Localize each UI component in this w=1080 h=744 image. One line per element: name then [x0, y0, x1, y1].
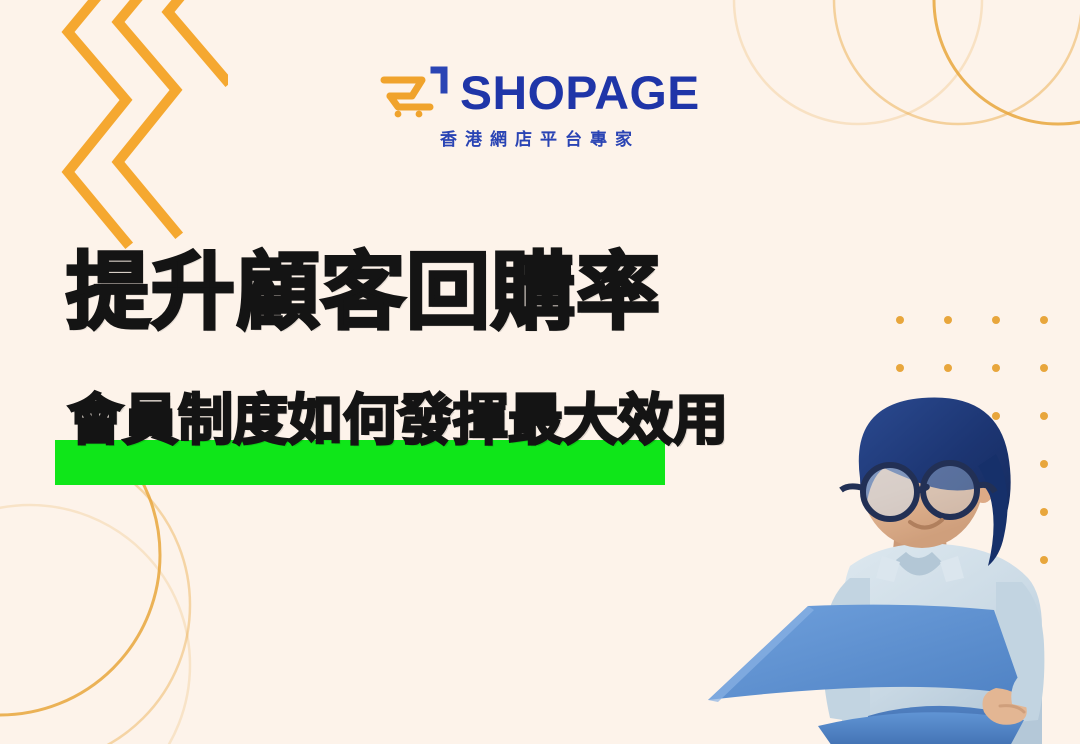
person-with-laptop-illustration	[700, 370, 1080, 744]
page-title: 提升顧客回購率	[66, 248, 661, 336]
page-subtitle: 會員制度如何發揮最大效用	[68, 390, 728, 451]
logo-primary-row: SHOPAGE	[378, 66, 695, 118]
subtitle-block: 會員制度如何發揮最大效用	[55, 390, 775, 490]
circle-outlines-top-right-icon	[720, 0, 1080, 210]
logo-wordmark: SHOPAGE	[460, 69, 700, 116]
shopping-cart-icon	[378, 66, 450, 118]
shopage-logo[interactable]: SHOPAGE 香港網店平台專家	[378, 66, 708, 150]
logo-tagline: 香港網店平台專家	[440, 125, 640, 150]
zigzag-lines-icon	[8, 0, 228, 252]
blog-cover-canvas: SHOPAGE 香港網店平台專家 提升顧客回購率 會員制度如何發揮最大效用	[0, 0, 1080, 744]
circle-outlines-bottom-left-icon	[0, 455, 280, 744]
